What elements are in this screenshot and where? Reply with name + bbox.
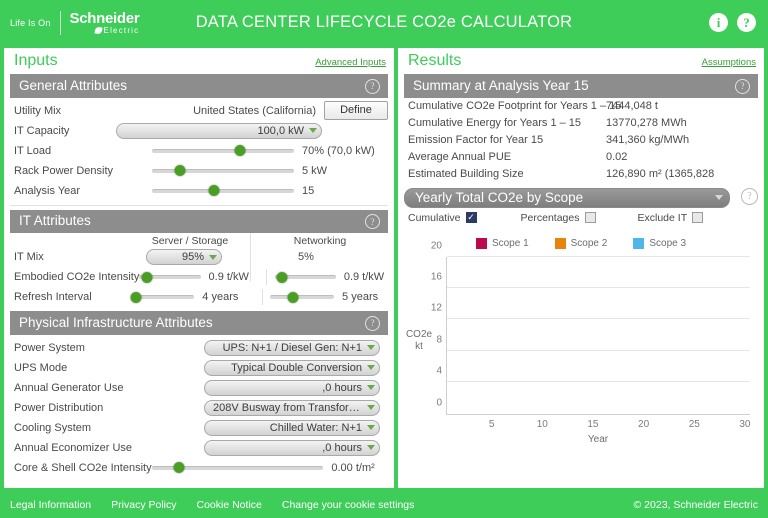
section-general-attributes: General Attributes ? <box>10 74 388 98</box>
checkbox-box-2[interactable] <box>692 212 703 223</box>
summary-label-0: Cumulative CO2e Footprint for Years 1 – … <box>408 100 606 112</box>
core-shell-slider[interactable] <box>152 461 324 475</box>
physical-dropdown-2[interactable]: ,0 hours <box>204 380 380 396</box>
physical-dropdown-3[interactable]: 208V Busway from Transformer <box>204 400 380 416</box>
define-button[interactable]: Define <box>324 101 388 120</box>
footer-link-2[interactable]: Cookie Notice <box>197 499 262 511</box>
results-panel-header: Results Assumptions <box>398 48 764 72</box>
chart-legend: Scope 1Scope 2Scope 3 <box>398 238 764 249</box>
it-column-headers: Server / Storage Networking <box>4 233 394 247</box>
it-col-server-storage: Server / Storage <box>130 235 250 247</box>
physical-value-4: Chilled Water: N+1 <box>270 422 362 434</box>
check-icon: ✓ <box>467 213 475 222</box>
rack-power-density-label: Rack Power Density <box>14 165 113 177</box>
it-mix-server-value: 95% <box>182 251 204 263</box>
header-icon-group: i ? <box>709 13 756 32</box>
section-physical-infrastructure: Physical Infrastructure Attributes ? <box>10 311 388 335</box>
results-panel: Results Assumptions Summary at Analysis … <box>398 48 764 488</box>
inputs-panel: Inputs Advanced Inputs General Attribute… <box>4 48 394 488</box>
core-shell-slider-thumb[interactable] <box>174 462 185 473</box>
summary-row: Emission Factor for Year 15341,360 kg/MW… <box>408 134 758 151</box>
y-axis-tick: 12 <box>431 303 442 314</box>
legend-swatch-2 <box>633 238 644 249</box>
summary-value-0: 7444,048 t <box>606 100 658 112</box>
y-axis-tick: 20 <box>431 240 442 251</box>
gridline <box>447 287 750 288</box>
help-icon-chart[interactable]: ? <box>741 188 758 205</box>
it-mix-server-dropdown[interactable]: 95% <box>146 249 222 265</box>
row-core-shell-intensity: Core & Shell CO2e Intensity 0.00 t/m² <box>14 458 388 478</box>
row-embodied-intensity: Embodied CO2e Intensity 0.9 t/kW 0.9 t/k… <box>14 267 388 287</box>
physical-value-1: Typical Double Conversion <box>231 362 362 374</box>
chevron-down-icon <box>367 405 375 410</box>
footer-link-3[interactable]: Change your cookie settings <box>282 499 415 511</box>
checkbox-label-1: Percentages <box>521 212 580 224</box>
footer-link-1[interactable]: Privacy Policy <box>111 499 176 511</box>
legend-swatch-0 <box>476 238 487 249</box>
refresh-interval-slider-2[interactable] <box>270 290 334 304</box>
refresh-interval-value-2: 5 years <box>342 291 388 303</box>
assumptions-link[interactable]: Assumptions <box>702 57 756 68</box>
life-is-on-tagline: Life Is On <box>10 18 51 28</box>
copyright-text: © 2023, Schneider Electric <box>634 499 758 511</box>
checkbox-exclude-it[interactable]: Exclude IT <box>638 212 704 224</box>
inputs-title: Inputs <box>14 52 58 70</box>
physical-value-3: 208V Busway from Transformer <box>213 402 362 414</box>
refresh-interval-label: Refresh Interval <box>14 291 131 303</box>
it-load-slider-thumb[interactable] <box>235 145 246 156</box>
row-it-load: IT Load 70% (70,0 kW) <box>14 141 388 161</box>
advanced-inputs-link[interactable]: Advanced Inputs <box>315 57 386 68</box>
results-title: Results <box>408 52 461 70</box>
section-summary-label: Summary at Analysis Year 15 <box>413 78 589 93</box>
chevron-down-icon <box>367 425 375 430</box>
physical-value-0: UPS: N+1 / Diesel Gen: N+1 <box>223 342 362 354</box>
section-it-attributes: IT Attributes ? <box>10 210 388 234</box>
it-mix-label: IT Mix <box>14 251 126 263</box>
refresh-interval-slider-1[interactable] <box>131 290 195 304</box>
help-icon-general[interactable]: ? <box>365 77 380 94</box>
physical-dropdown-5[interactable]: ,0 hours <box>204 440 380 456</box>
app-header: Life Is On Schneider Electric DATA CENTE… <box>0 0 768 45</box>
analysis-year-value: 15 <box>302 185 388 197</box>
x-axis-tick: 25 <box>689 419 700 430</box>
analysis-year-label: Analysis Year <box>14 185 80 197</box>
analysis-year-slider[interactable] <box>152 184 294 198</box>
checkbox-label-0: Cumulative <box>408 212 461 224</box>
physical-label-0: Power System <box>14 342 85 354</box>
summary-row: Cumulative Energy for Years 1 – 1513770,… <box>408 117 758 134</box>
refresh-interval-slider-1-thumb[interactable] <box>130 292 141 303</box>
row-physical-0: Power SystemUPS: N+1 / Diesel Gen: N+1 <box>14 338 388 358</box>
embodied-intensity-slider-1[interactable] <box>139 270 200 284</box>
it-col-networking: Networking <box>262 235 378 247</box>
footer-links: Legal InformationPrivacy PolicyCookie No… <box>10 499 434 511</box>
it-capacity-dropdown[interactable]: 100,0 kW <box>116 123 322 139</box>
row-rack-power-density: Rack Power Density 5 kW <box>14 161 388 181</box>
chevron-down-icon <box>309 128 317 133</box>
physical-dropdown-1[interactable]: Typical Double Conversion <box>204 360 380 376</box>
gridline <box>447 350 750 351</box>
help-icon[interactable]: ? <box>737 13 756 32</box>
row-physical-5: Annual Economizer Use,0 hours <box>14 438 388 458</box>
checkbox-percentages[interactable]: Percentages <box>521 212 596 224</box>
chart-option-checkboxes: Cumulative✓PercentagesExclude IT <box>398 208 764 224</box>
summary-label-3: Average Annual PUE <box>408 151 606 163</box>
chart-select-row: Yearly Total CO2e by Scope ? <box>398 185 758 208</box>
refresh-interval-slider-2-thumb[interactable] <box>287 292 298 303</box>
refresh-interval-value-1: 4 years <box>202 291 253 303</box>
physical-label-5: Annual Economizer Use <box>14 442 132 454</box>
gridline <box>447 256 750 257</box>
x-axis-tick: 10 <box>537 419 548 430</box>
embodied-intensity-slider-2[interactable] <box>275 270 336 284</box>
physical-value-2: ,0 hours <box>322 382 362 394</box>
chart-plot-area: 048121620 <box>446 257 750 415</box>
it-load-slider[interactable] <box>152 144 294 158</box>
app-footer: Legal InformationPrivacy PolicyCookie No… <box>0 491 768 518</box>
chart-type-dropdown[interactable]: Yearly Total CO2e by Scope <box>404 188 730 208</box>
utility-mix-label: Utility Mix <box>14 105 61 117</box>
chart-x-axis-label: Year <box>446 434 750 445</box>
summary-label-2: Emission Factor for Year 15 <box>408 134 606 146</box>
physical-rows[interactable]: Power SystemUPS: N+1 / Diesel Gen: N+1UP… <box>4 335 394 478</box>
it-load-value: 70% (70,0 kW) <box>302 145 388 157</box>
brand-name: Schneider <box>70 11 140 26</box>
physical-label-4: Cooling System <box>14 422 91 434</box>
footer-link-0[interactable]: Legal Information <box>10 499 91 511</box>
row-it-mix: IT Mix 95% 5% <box>14 247 388 267</box>
logo-divider <box>60 11 61 35</box>
summary-value-4: 126,890 m² (1365,828 <box>606 168 714 180</box>
schneider-electric-logo: Life Is On Schneider Electric <box>10 11 139 35</box>
divider-general <box>10 205 388 206</box>
physical-dropdown-4[interactable]: Chilled Water: N+1 <box>204 420 380 436</box>
row-utility-mix: Utility Mix United States (California) D… <box>14 101 388 121</box>
row-physical-1: UPS ModeTypical Double Conversion <box>14 358 388 378</box>
core-shell-label: Core & Shell CO2e Intensity <box>14 462 152 474</box>
x-axis-tick: 15 <box>587 419 598 430</box>
x-axis-tick: 5 <box>489 419 495 430</box>
gridline <box>447 381 750 382</box>
summary-value-1: 13770,278 MWh <box>606 117 687 129</box>
chevron-down-icon <box>367 345 375 350</box>
summary-label-4: Estimated Building Size <box>408 168 606 180</box>
chart-type-value: Yearly Total CO2e by Scope <box>415 190 583 205</box>
chevron-down-icon <box>367 365 375 370</box>
legend-item-2[interactable]: Scope 3 <box>633 238 686 249</box>
brand-lockup: Schneider Electric <box>70 11 140 35</box>
chart-bars <box>449 257 748 414</box>
embodied-intensity-value-1: 0.9 t/kW <box>209 271 258 283</box>
summary-label-1: Cumulative Energy for Years 1 – 15 <box>408 117 606 129</box>
embodied-intensity-value-2: 0.9 t/kW <box>344 271 388 283</box>
application-window: Life Is On Schneider Electric DATA CENTE… <box>0 0 768 518</box>
y-axis-tick: 8 <box>436 334 442 345</box>
embodied-intensity-slider-1-thumb[interactable] <box>141 272 152 283</box>
row-physical-3: Power Distribution208V Busway from Trans… <box>14 398 388 418</box>
legend-label-0: Scope 1 <box>492 238 529 249</box>
info-icon[interactable]: i <box>709 13 728 32</box>
embodied-intensity-label: Embodied CO2e Intensity <box>14 271 139 283</box>
it-attributes-rows: IT Mix 95% 5% Embodied CO2e Intensity 0.… <box>4 247 394 307</box>
row-it-capacity: IT Capacity 100,0 kW <box>14 121 388 141</box>
it-capacity-label: IT Capacity <box>14 125 69 137</box>
brand-subname-text: Electric <box>104 27 140 35</box>
legend-item-1[interactable]: Scope 2 <box>555 238 608 249</box>
legend-label-1: Scope 2 <box>571 238 608 249</box>
legend-label-2: Scope 3 <box>649 238 686 249</box>
checkbox-label-2: Exclude IT <box>638 212 688 224</box>
chevron-down-icon <box>715 195 723 200</box>
chevron-down-icon <box>209 255 217 260</box>
section-general-attributes-label: General Attributes <box>19 78 127 93</box>
app-body: Inputs Advanced Inputs General Attribute… <box>0 45 768 491</box>
rack-power-density-slider[interactable] <box>152 164 294 178</box>
row-refresh-interval: Refresh Interval 4 years 5 years <box>14 287 388 307</box>
utility-mix-value: United States (California) <box>193 105 316 117</box>
section-summary: Summary at Analysis Year 15 ? <box>404 74 758 98</box>
summary-row: Estimated Building Size126,890 m² (1365,… <box>408 168 758 185</box>
row-physical-4: Cooling SystemChilled Water: N+1 <box>14 418 388 438</box>
physical-label-2: Annual Generator Use <box>14 382 123 394</box>
physical-dropdown-0[interactable]: UPS: N+1 / Diesel Gen: N+1 <box>204 340 380 356</box>
gridline <box>447 413 750 414</box>
summary-value-3: 0.02 <box>606 151 627 163</box>
checkbox-box-1[interactable] <box>585 212 596 223</box>
brand-subname: Electric <box>70 27 140 35</box>
co2e-bar-chart: CO2ekt 048121620 51015202530 Year <box>404 251 754 441</box>
help-icon-physical[interactable]: ? <box>365 314 380 331</box>
y-axis-tick: 4 <box>436 366 442 377</box>
it-capacity-value: 100,0 kW <box>258 125 304 137</box>
help-icon-it[interactable]: ? <box>365 213 380 230</box>
help-icon-summary[interactable]: ? <box>735 77 750 94</box>
row-physical-2: Annual Generator Use,0 hours <box>14 378 388 398</box>
summary-value-2: 341,360 kg/MWh <box>606 134 689 146</box>
summary-row: Cumulative CO2e Footprint for Years 1 – … <box>408 100 758 117</box>
chart-y-axis-label: CO2ekt <box>402 329 436 353</box>
chevron-down-icon <box>367 445 375 450</box>
rack-power-density-value: 5 kW <box>302 165 388 177</box>
y-axis-tick: 16 <box>431 271 442 282</box>
summary-row: Average Annual PUE0.02 <box>408 151 758 168</box>
section-it-attributes-label: IT Attributes <box>19 213 91 228</box>
it-load-label: IT Load <box>14 145 51 157</box>
y-axis-tick: 0 <box>436 397 442 408</box>
row-analysis-year: Analysis Year 15 <box>14 181 388 201</box>
x-axis-tick: 30 <box>739 419 750 430</box>
analysis-year-slider-thumb[interactable] <box>209 185 220 196</box>
x-axis-tick: 20 <box>638 419 649 430</box>
chart-x-ticks: 51015202530 <box>446 419 750 431</box>
embodied-intensity-slider-2-thumb[interactable] <box>276 272 287 283</box>
physical-label-3: Power Distribution <box>14 402 103 414</box>
legend-item-0[interactable]: Scope 1 <box>476 238 529 249</box>
physical-label-1: UPS Mode <box>14 362 67 374</box>
physical-value-5: ,0 hours <box>322 442 362 454</box>
checkbox-box-0[interactable]: ✓ <box>466 212 477 223</box>
core-shell-value: 0.00 t/m² <box>331 462 388 474</box>
summary-rows: Cumulative CO2e Footprint for Years 1 – … <box>398 98 764 185</box>
chevron-down-icon <box>367 385 375 390</box>
inputs-panel-header: Inputs Advanced Inputs <box>4 48 394 72</box>
section-physical-infrastructure-label: Physical Infrastructure Attributes <box>19 315 213 330</box>
checkbox-cumulative[interactable]: Cumulative✓ <box>408 212 477 224</box>
leaf-icon <box>94 26 102 34</box>
legend-swatch-1 <box>555 238 566 249</box>
it-mix-networking-value: 5% <box>261 251 351 263</box>
gridline <box>447 318 750 319</box>
rack-power-density-slider-thumb[interactable] <box>175 165 186 176</box>
general-attributes-rows: Utility Mix United States (California) D… <box>4 98 394 201</box>
